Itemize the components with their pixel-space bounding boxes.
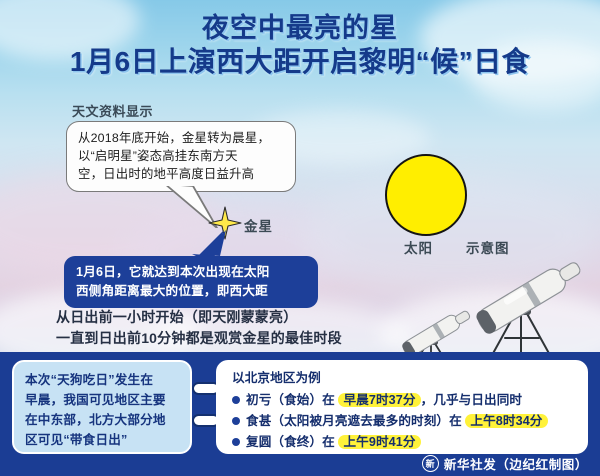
left-box-line-2: 早晨，我国可见地区主要 (25, 390, 181, 410)
white-speech-bubble: 从2018年底开始，金星转为晨星， 以“启明星”姿态高挂东南方天 空，日出时的地… (66, 121, 296, 192)
timing-prefix-1: 食甚（太阳被月亮遮去最多的时刻）在 (246, 414, 465, 428)
blue-bubble-line-1: 1月6日，它就达到本次出现在太阳 (76, 263, 308, 282)
credit-line: 新 新华社发（边纪红制图） (422, 454, 588, 473)
astro-source-caption: 天文资料显示 (72, 101, 153, 120)
white-bubble-line-3: 空，日出时的地平高度日益升高 (78, 166, 285, 184)
timings-heading: 以北京地区为例 (232, 369, 578, 389)
title-line-2: 1月6日上演西大距开启黎明“候”日食 (0, 47, 600, 77)
timing-prefix-2: 复圆（食终）在 (246, 435, 338, 449)
eclipse-summary-box: 本次“天狗吃日”发生在 早晨，我国可见地区主要 在中东部，北方大部分地 区可见“… (12, 360, 192, 454)
white-bubble-line-2: 以“启明星”姿态高挂东南方天 (78, 148, 285, 166)
credit-text: 新华社发（边纪红制图） (444, 454, 588, 473)
free-text-line-2: 一直到日出前10分钟都是观赏金星的最佳时段 (56, 328, 416, 349)
white-bubble-line-1: 从2018年底开始，金星转为晨星， (78, 130, 285, 148)
left-box-line-1: 本次“天狗吃日”发生在 (25, 370, 181, 390)
list-item: 初亏（食始）在 早晨7时37分，几乎与日出同时 (232, 391, 578, 411)
left-box-line-3: 在中东部，北方大部分地 (25, 410, 181, 430)
list-item: 食甚（太阳被月亮遮去最多的时刻）在 上午8时34分 (232, 412, 578, 432)
title-line-1: 夜空中最亮的星 (0, 14, 600, 43)
blue-bubble-tail-icon (190, 230, 230, 258)
xinhua-logo-icon: 新 (422, 455, 439, 472)
observation-window-text: 从日出前一小时开始（即天刚蒙蒙亮） 一直到日出前10分钟都是观赏金星的最佳时段 (56, 307, 416, 350)
diagram-label: 示意图 (466, 237, 510, 257)
free-text-line-1: 从日出前一小时开始（即天刚蒙蒙亮） (56, 307, 416, 328)
infographic-poster: 夜空中最亮的星 1月6日上演西大距开启黎明“候”日食 天文资料显示 从2018年… (0, 0, 600, 476)
timing-prefix-0: 初亏（食始）在 (246, 393, 338, 407)
blue-speech-bubble: 1月6日，它就达到本次出现在太阳 西侧角距离最大的位置，即西大距 (64, 256, 318, 308)
eclipse-timings-box: 以北京地区为例 初亏（食始）在 早晨7时37分，几乎与日出同时 食甚（太阳被月亮… (216, 360, 588, 454)
bullet-dot-icon (232, 396, 240, 404)
bullet-dot-icon (232, 438, 240, 446)
bullet-dot-icon (232, 417, 240, 425)
venus-label: 金星 (244, 215, 273, 235)
left-box-line-4: 区可见“带食日出” (25, 430, 181, 450)
blue-bubble-line-2: 西侧角距离最大的位置，即西大距 (76, 282, 308, 301)
timing-suffix-0: ，几乎与日出同时 (421, 393, 523, 407)
timing-highlight-0: 早晨7时37分 (338, 393, 420, 407)
timings-list: 初亏（食始）在 早晨7时37分，几乎与日出同时 食甚（太阳被月亮遮去最多的时刻）… (232, 391, 578, 453)
sun-circle-icon (385, 154, 467, 236)
list-item: 复圆（食终）在 上午9时41分 (232, 433, 578, 453)
timing-highlight-2: 上午9时41分 (338, 435, 420, 449)
sun-label: 太阳 (404, 237, 433, 257)
timing-highlight-1: 上午8时34分 (465, 414, 547, 428)
page-title: 夜空中最亮的星 1月6日上演西大距开启黎明“候”日食 (0, 14, 600, 76)
